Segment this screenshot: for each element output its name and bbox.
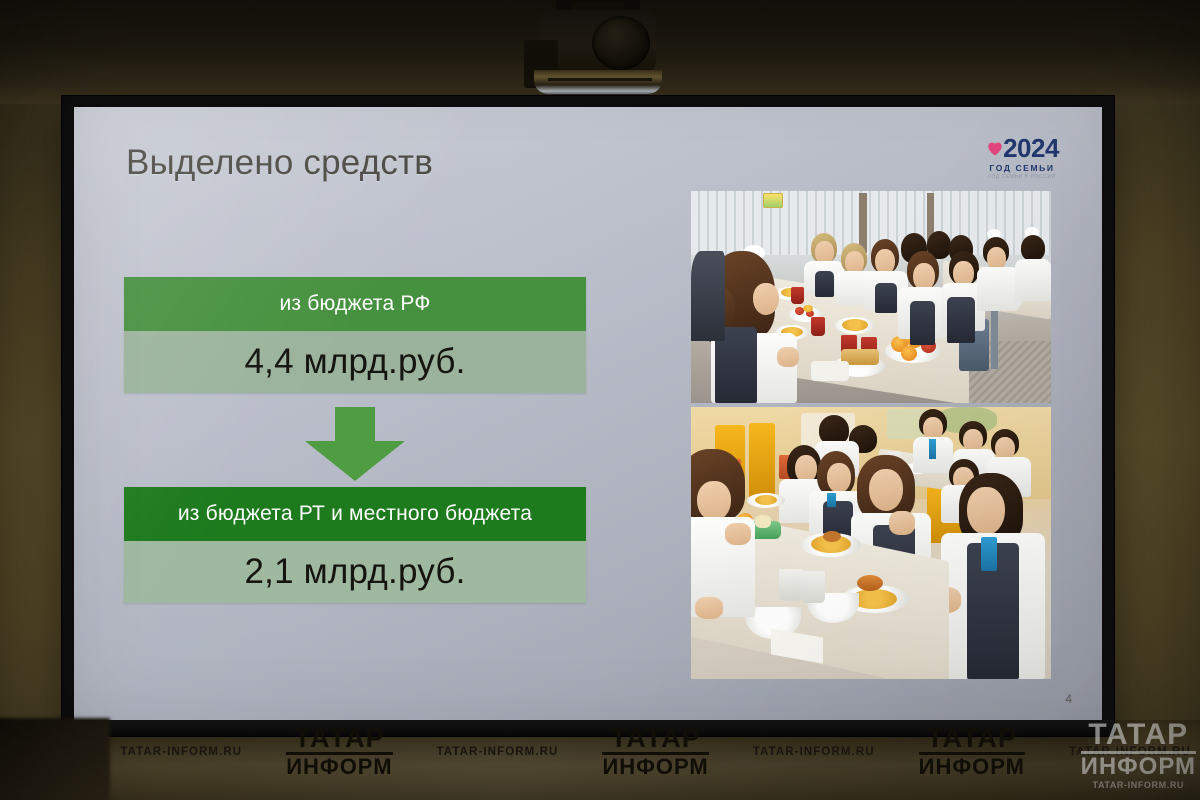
budget-box-rt: из бюджета РТ и местного бюджета 2,1 млр… xyxy=(124,487,586,603)
arrow-down-icon xyxy=(302,407,408,481)
heart-icon xyxy=(985,138,1005,158)
year-of-family-logo: 2024 ГОД СЕМЬИ ГОД СЕМЬИ В РОССИИ xyxy=(976,135,1068,180)
foreground-table-edge xyxy=(0,718,110,800)
logo-subtitle: ГОД СЕМЬИ xyxy=(976,163,1068,173)
photo-school-canteen-bottom xyxy=(691,407,1051,679)
budget-box-rf: из бюджета РФ 4,4 млрд.руб. xyxy=(124,277,586,393)
tatar-inform-url: TATAR-INFORM.RU xyxy=(1069,746,1191,758)
budget-box-rt-value: 2,1 млрд.руб. xyxy=(124,541,586,603)
tatar-inform-url: TATAR-INFORM.RU xyxy=(753,746,875,758)
presentation-slide: Выделено средств 2024 ГОД СЕМЬИ ГОД СЕМЬ… xyxy=(74,107,1102,720)
budget-box-rf-value: 4,4 млрд.руб. xyxy=(124,331,586,393)
photo-scene: Выделено средств 2024 ГОД СЕМЬИ ГОД СЕМЬ… xyxy=(0,0,1200,800)
slide-page-number: 4 xyxy=(1065,692,1072,706)
press-wall-backdrop: ТАТАР ИНФОРМ TATAR-INFORM.RU ТАТАР ИНФОР… xyxy=(0,720,1200,800)
page-title: Выделено средств xyxy=(126,143,433,183)
budget-box-rt-header: из бюджета РТ и местного бюджета xyxy=(124,487,586,541)
photo-column xyxy=(691,191,1051,679)
logo-subtitle-small: ГОД СЕМЬИ В РОССИИ xyxy=(976,174,1068,180)
press-wall-unit: ТАТАР ИНФОРМ TATAR-INFORM.RU xyxy=(602,726,918,778)
ptz-camera-icon xyxy=(518,0,678,104)
tatar-inform-logo: ТАТАР ИНФОРМ xyxy=(286,726,392,778)
photo-school-canteen-top xyxy=(691,191,1051,403)
press-wall-unit: ТАТАР ИНФОРМ TATAR-INFORM.RU xyxy=(919,726,1200,778)
press-wall-unit: ТАТАР ИНФОРМ TATAR-INFORM.RU xyxy=(286,726,602,778)
tatar-inform-logo: ТАТАР ИНФОРМ xyxy=(919,726,1025,778)
tatar-inform-url: TATAR-INFORM.RU xyxy=(120,746,242,758)
logo-year: 2024 xyxy=(1003,135,1059,161)
tatar-inform-url: TATAR-INFORM.RU xyxy=(437,746,559,758)
tatar-inform-logo: ТАТАР ИНФОРМ xyxy=(602,726,708,778)
tv-display[interactable]: Выделено средств 2024 ГОД СЕМЬИ ГОД СЕМЬ… xyxy=(62,96,1114,736)
budget-box-rf-header: из бюджета РФ xyxy=(124,277,586,331)
